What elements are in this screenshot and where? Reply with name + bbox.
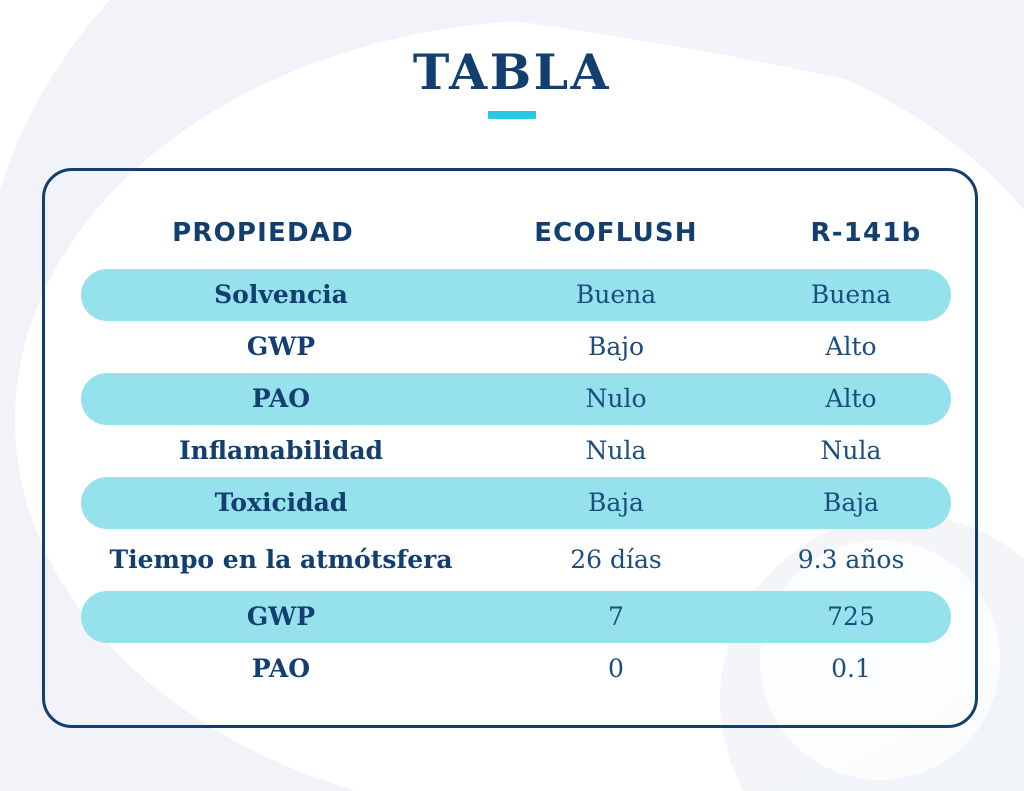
- cell-property: PAO: [81, 386, 481, 413]
- table-row: GWPBajoAlto: [81, 321, 951, 373]
- cell-r141b: 0.1: [751, 655, 951, 683]
- cell-r141b: Alto: [751, 385, 951, 413]
- cell-property: PAO: [81, 656, 481, 683]
- table-row: PAONuloAlto: [81, 373, 951, 425]
- table-body: SolvenciaBuenaBuenaGWPBajoAltoPAONuloAlt…: [45, 269, 981, 695]
- cell-r141b: 725: [751, 603, 951, 631]
- cell-ecoflush: Buena: [481, 281, 751, 309]
- cell-r141b: 9.3 años: [751, 546, 951, 574]
- column-header-r141b: R-141b: [751, 220, 981, 246]
- cell-ecoflush: Baja: [481, 489, 751, 517]
- table-row: Tiempo en la atmótsfera26 días9.3 años: [81, 529, 951, 591]
- table-row: ToxicidadBajaBaja: [81, 477, 951, 529]
- cell-property: Solvencia: [81, 282, 481, 309]
- comparison-table-card: PROPIEDAD ECOFLUSH R-141b SolvenciaBuena…: [42, 168, 978, 728]
- cell-ecoflush: Nula: [481, 437, 751, 465]
- table-row: GWP7725: [81, 591, 951, 643]
- comparison-table: PROPIEDAD ECOFLUSH R-141b SolvenciaBuena…: [45, 171, 981, 695]
- cell-ecoflush: 26 días: [481, 546, 751, 574]
- column-header-ecoflush: ECOFLUSH: [481, 220, 751, 246]
- table-header-row: PROPIEDAD ECOFLUSH R-141b: [45, 197, 981, 269]
- table-row: SolvenciaBuenaBuena: [81, 269, 951, 321]
- cell-ecoflush: Bajo: [481, 333, 751, 361]
- title-block: TABLA: [0, 48, 1024, 119]
- table-row: InflamabilidadNulaNula: [81, 425, 951, 477]
- cell-ecoflush: 0: [481, 655, 751, 683]
- column-header-property: PROPIEDAD: [45, 220, 481, 246]
- cell-r141b: Alto: [751, 333, 951, 361]
- cell-ecoflush: Nulo: [481, 385, 751, 413]
- cell-ecoflush: 7: [481, 603, 751, 631]
- cell-r141b: Nula: [751, 437, 951, 465]
- cell-property: Inflamabilidad: [81, 438, 481, 465]
- cell-r141b: Baja: [751, 489, 951, 517]
- cell-property: Tiempo en la atmótsfera: [81, 547, 481, 574]
- cell-property: GWP: [81, 604, 481, 631]
- cell-property: GWP: [81, 334, 481, 361]
- cell-r141b: Buena: [751, 281, 951, 309]
- title-underline: [488, 111, 536, 119]
- page-title: TABLA: [0, 48, 1024, 97]
- table-row: PAO00.1: [81, 643, 951, 695]
- cell-property: Toxicidad: [81, 490, 481, 517]
